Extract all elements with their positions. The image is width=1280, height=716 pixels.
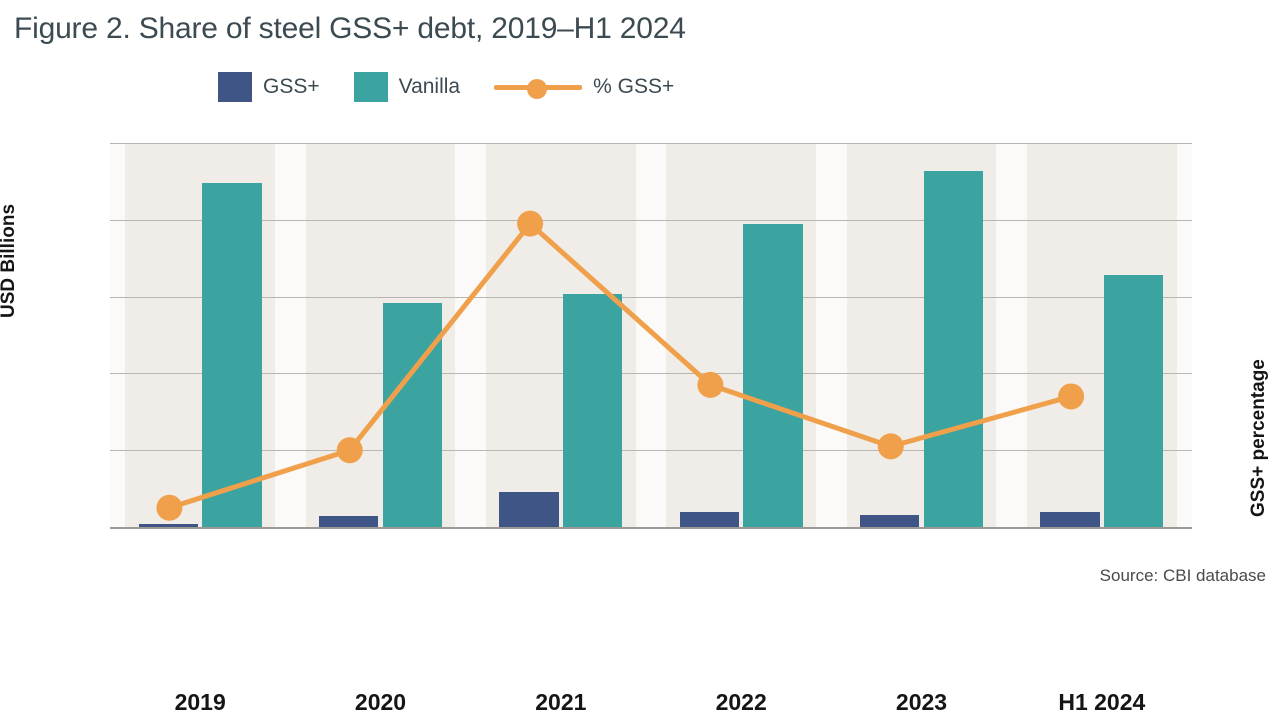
source-note: Source: CBI database [1100,566,1266,586]
pct-gss-marker [1058,383,1084,409]
x-axis-tick-label: 2021 [535,689,586,716]
pct-gss-marker [878,433,904,459]
y-axis-left-title: USD Billions [0,204,20,318]
square-swatch-icon [354,72,388,102]
y-axis-right-title: GSS+ percentage [1248,359,1270,517]
pct-gss-line [169,224,1071,508]
x-axis-tick-label: 2020 [355,689,406,716]
legend-label: Vanilla [399,75,460,99]
plot-area: 0510152025 04%8%12%16%20% 20192020202120… [110,143,1192,527]
chart-legend: GSS+ Vanilla % GSS+ [218,72,674,102]
legend-item-vanilla[interactable]: Vanilla [354,72,460,102]
x-axis-tick-label: H1 2024 [1058,689,1145,716]
line-series-layer [110,143,1192,527]
x-axis-tick-label: 2023 [896,689,947,716]
figure-title: Figure 2. Share of steel GSS+ debt, 2019… [14,12,686,46]
square-swatch-icon [218,72,252,102]
legend-label: GSS+ [263,75,320,99]
line-marker-icon [494,72,582,102]
pct-gss-marker [517,211,543,237]
pct-gss-marker [337,437,363,463]
pct-gss-marker [156,495,182,521]
legend-item-gss[interactable]: GSS+ [218,72,320,102]
legend-label: % GSS+ [593,75,674,99]
x-axis-tick-label: 2022 [716,689,767,716]
x-axis-tick-label: 2019 [175,689,226,716]
legend-item-pct-gss[interactable]: % GSS+ [494,72,674,102]
pct-gss-marker [697,372,723,398]
axis-baseline [110,527,1192,529]
figure-container: Figure 2. Share of steel GSS+ debt, 2019… [0,0,1280,600]
